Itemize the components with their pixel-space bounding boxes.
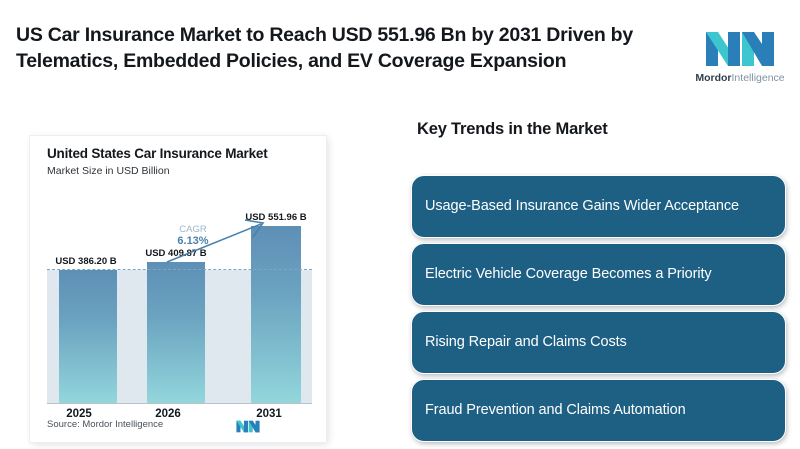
- trend-card-electric-vehicle-coverage[interactable]: Electric Vehicle Coverage Becomes a Prio…: [411, 243, 786, 306]
- cagr-arrow-icon: [165, 218, 275, 264]
- trend-card-label: Fraud Prevention and Claims Automation: [425, 401, 686, 420]
- brand-wordmark: MordorIntelligence: [695, 73, 784, 84]
- trend-card-label: Rising Repair and Claims Costs: [425, 333, 627, 352]
- source-mordor-monogram-icon: [235, 418, 261, 433]
- brand-word-intelligence: Intelligence: [732, 72, 785, 84]
- brand-logo: MordorIntelligence: [688, 6, 792, 102]
- key-trends-heading: Key Trends in the Market: [417, 120, 608, 139]
- market-size-chart-card: United States Car Insurance Market Marke…: [30, 136, 326, 442]
- chart-title: United States Car Insurance Market: [47, 146, 268, 161]
- mordor-intelligence-monogram-icon: [704, 24, 776, 68]
- chart-x-axis: [47, 403, 312, 404]
- trend-card-fraud-prevention-claims-automation[interactable]: Fraud Prevention and Claims Automation: [411, 379, 786, 442]
- bar-2025: [59, 270, 117, 404]
- chart-plot-area: USD 386.20 B USD 409.87 B USD 551.96 B C…: [47, 200, 312, 404]
- brand-word-mordor: Mordor: [695, 72, 731, 84]
- header: US Car Insurance Market to Reach USD 551…: [0, 0, 800, 108]
- chart-subtitle: Market Size in USD Billion: [47, 165, 170, 177]
- trend-card-label: Usage-Based Insurance Gains Wider Accept…: [425, 197, 739, 216]
- trend-card-rising-repair-claims-costs[interactable]: Rising Repair and Claims Costs: [411, 311, 786, 374]
- page-title: US Car Insurance Market to Reach USD 551…: [16, 22, 666, 74]
- trend-card-label: Electric Vehicle Coverage Becomes a Prio…: [425, 265, 712, 284]
- bar-2026: [147, 262, 205, 404]
- chart-source-text: Source: Mordor Intelligence: [47, 419, 163, 430]
- bar-label-2025: USD 386.20 B: [42, 256, 130, 267]
- reference-dashed-line: [47, 269, 312, 270]
- trend-card-usage-based-insurance[interactable]: Usage-Based Insurance Gains Wider Accept…: [411, 175, 786, 238]
